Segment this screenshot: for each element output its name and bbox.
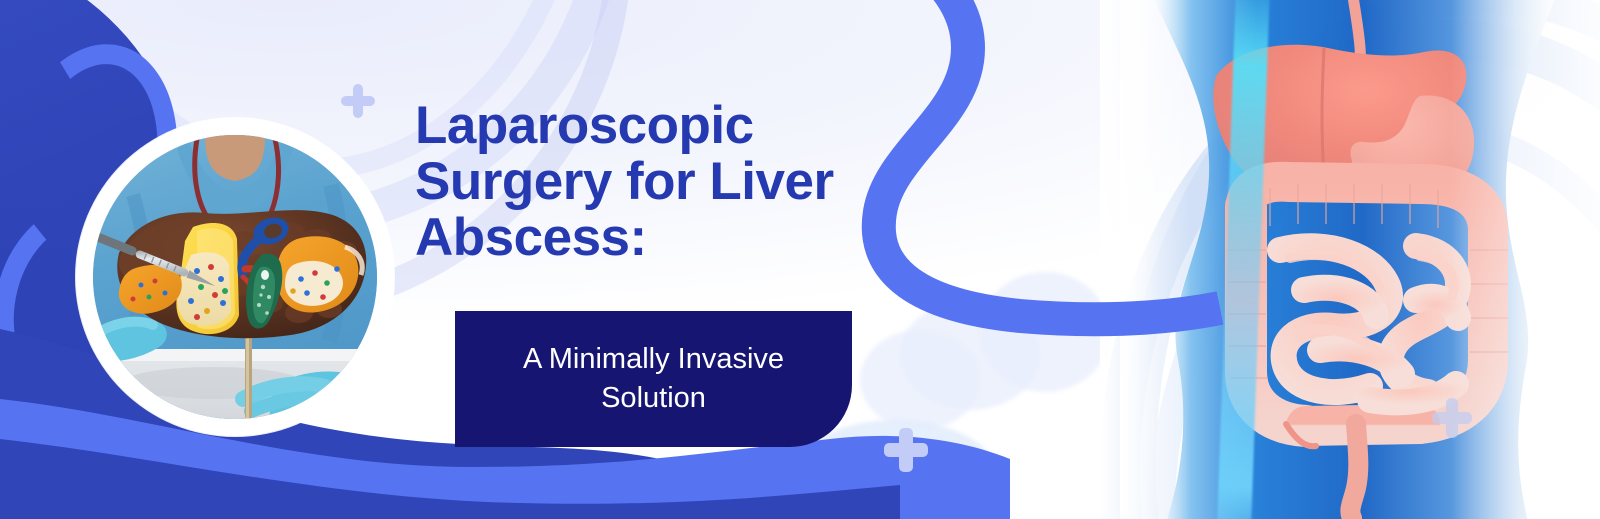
headline-line-1: Laparoscopic [415, 98, 935, 154]
headline-line-3: Abscess: [415, 210, 935, 266]
plus-icon-bottom [884, 428, 928, 472]
page-title: Laparoscopic Surgery for Liver Abscess: [415, 98, 935, 266]
doctor-liver-model-photo [93, 135, 377, 419]
headline-line-2: Surgery for Liver [415, 154, 935, 210]
digestive-system-illustration [1120, 0, 1600, 519]
subtitle-panel: A Minimally Invasive Solution [455, 311, 852, 447]
plus-icon-top [341, 84, 375, 118]
subtitle-text: A Minimally Invasive Solution [489, 340, 819, 418]
medical-banner: Laparoscopic Surgery for Liver Abscess: … [0, 0, 1600, 519]
illustration-left-fade [1100, 0, 1160, 519]
circular-photo-frame [76, 118, 394, 436]
plus-icon-right [1432, 398, 1472, 438]
